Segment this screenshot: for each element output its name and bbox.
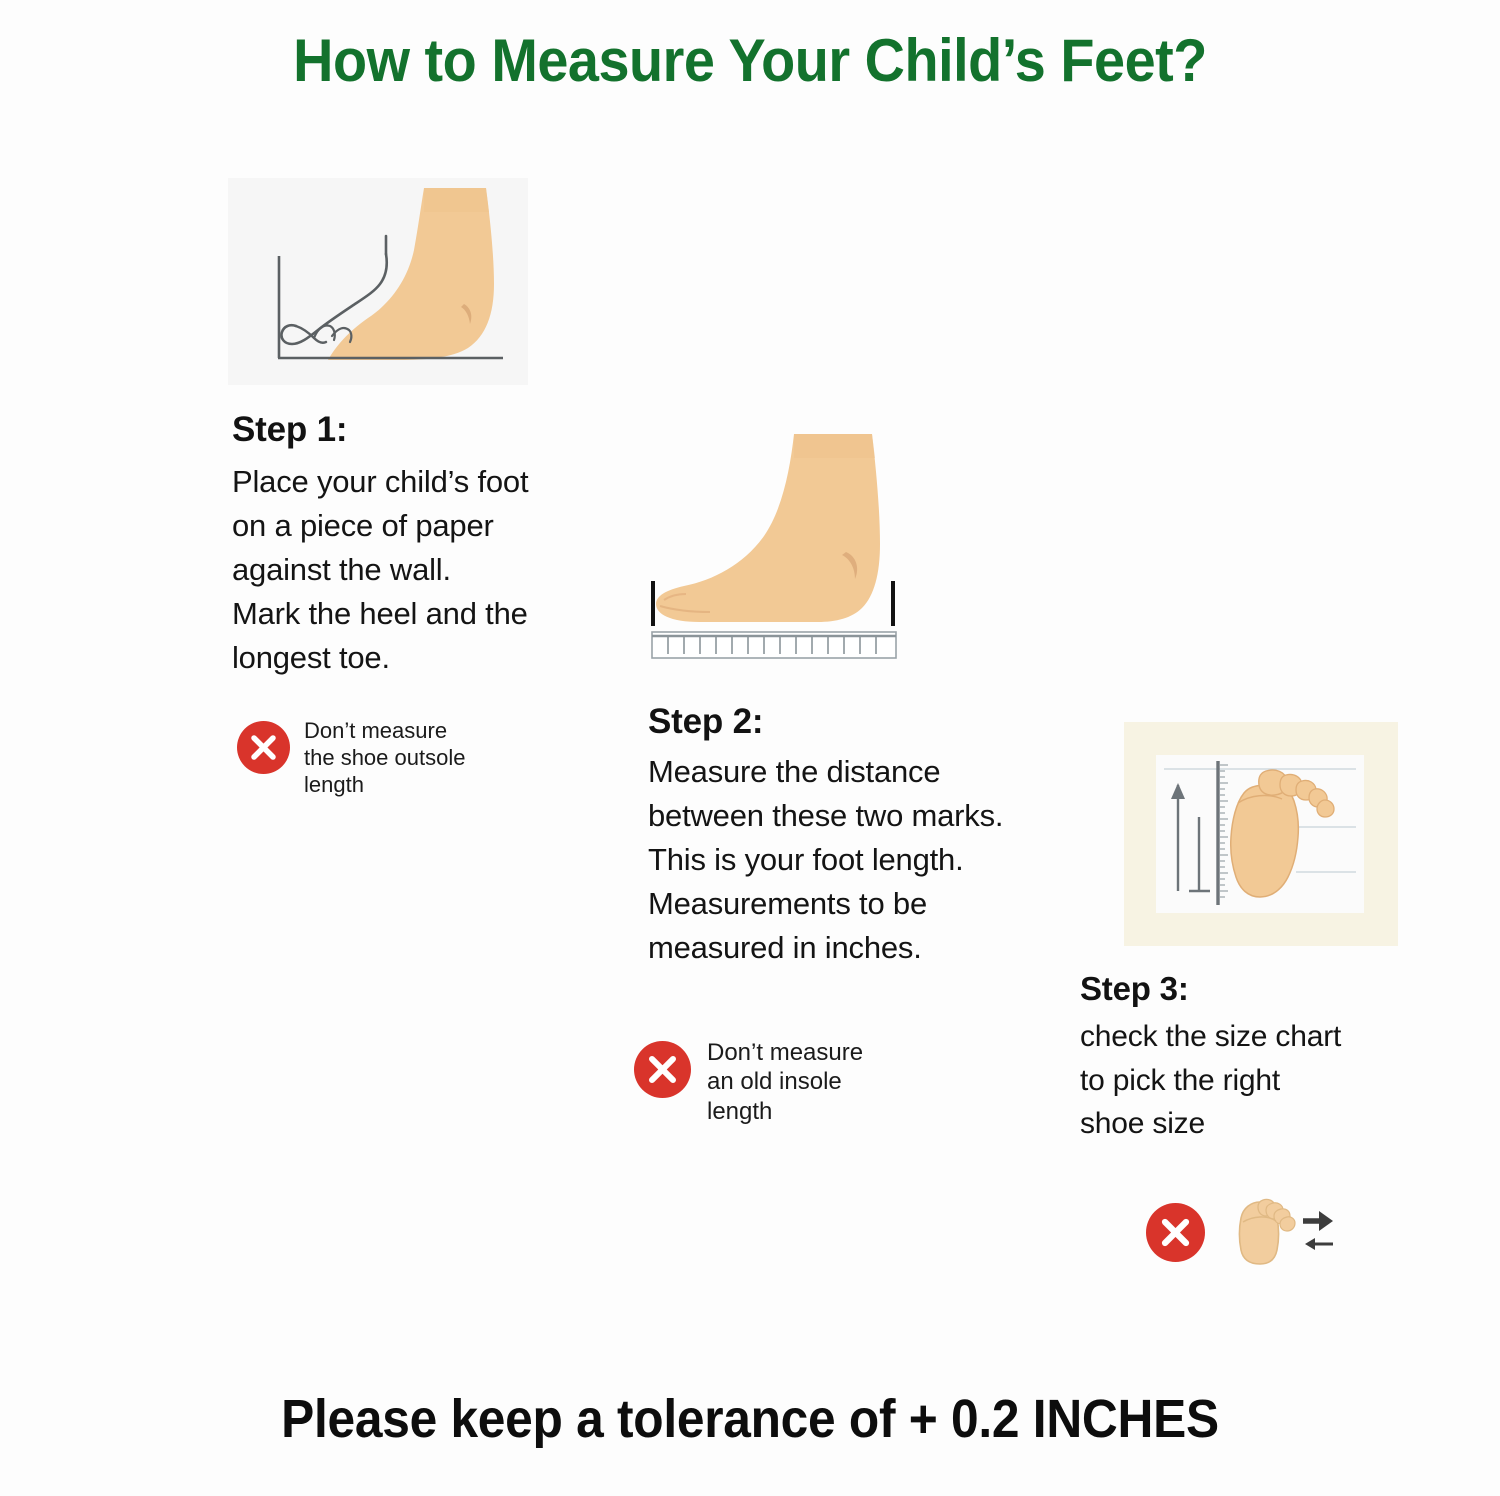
step-2-heading: Step 2: bbox=[648, 700, 1088, 744]
short-measure-arrow-icon bbox=[1189, 817, 1210, 891]
left-arrow-icon bbox=[1305, 1238, 1333, 1250]
foot-side-against-wall-graphic bbox=[228, 178, 528, 385]
vertical-ruler-ticks bbox=[1220, 765, 1228, 897]
step-1-line-2: on a piece of paper bbox=[232, 504, 562, 548]
x-cross-glyph bbox=[634, 1041, 691, 1098]
step-1-illustration bbox=[228, 178, 528, 385]
step-1-line-1: Place your child’s foot bbox=[232, 460, 562, 504]
page-title: How to Measure Your Child’s Feet? bbox=[53, 26, 1448, 95]
step-1-warning-line-1: Don’t measure bbox=[304, 718, 465, 745]
step-2-warning-line-1: Don’t measure bbox=[707, 1038, 863, 1067]
step-3-illustration bbox=[1124, 722, 1398, 946]
step-2-line-3: This is your foot length. bbox=[648, 838, 1088, 882]
step-3-line-1: check the size chart bbox=[1080, 1015, 1420, 1059]
ankle-shade bbox=[424, 188, 489, 212]
step-1-body: Place your child’s foot on a piece of pa… bbox=[232, 460, 562, 680]
step-3-line-2: to pick the right bbox=[1080, 1059, 1420, 1103]
step-1-line-4: Mark the heel and the bbox=[232, 592, 562, 636]
toe-5 bbox=[1317, 800, 1334, 817]
step-3-heading: Step 3: bbox=[1080, 968, 1420, 1009]
step-2-body: Measure the distance between these two m… bbox=[648, 750, 1088, 970]
x-cross-glyph bbox=[1146, 1203, 1205, 1262]
step-1-heading: Step 1: bbox=[232, 408, 562, 452]
red-x-circle-icon bbox=[237, 721, 290, 774]
foot-fill bbox=[328, 188, 494, 360]
footprint-with-opposing-arrows-icon bbox=[1227, 1196, 1337, 1268]
infographic-page: How to Measure Your Child’s Feet? Step 1… bbox=[0, 0, 1500, 1496]
step-3-line-3: shoe size bbox=[1080, 1102, 1420, 1146]
toe-small-4 bbox=[1280, 1217, 1295, 1231]
step-3-body: check the size chart to pick the right s… bbox=[1080, 1015, 1420, 1146]
step-1-text-block: Step 1: Place your child’s foot on a pie… bbox=[232, 408, 562, 680]
step-2-warning: Don’t measure an old insole length bbox=[634, 1038, 863, 1126]
step-2-line-4: Measurements to be bbox=[648, 882, 1088, 926]
step-1-line-5: longest toe. bbox=[232, 636, 562, 680]
step-1-warning-text: Don’t measure the shoe outsole length bbox=[304, 718, 465, 798]
toe-detail-2 bbox=[314, 326, 335, 341]
red-x-circle-icon bbox=[634, 1041, 691, 1098]
step-2-text-block: Step 2: Measure the distance between the… bbox=[648, 700, 1088, 970]
foot-fill bbox=[656, 434, 880, 622]
step-2-line-1: Measure the distance bbox=[648, 750, 1088, 794]
red-x-circle-icon bbox=[1146, 1203, 1205, 1262]
step-2-line-2: between these two marks. bbox=[648, 794, 1088, 838]
step-2-warning-text: Don’t measure an old insole length bbox=[707, 1038, 863, 1126]
x-cross-glyph bbox=[237, 721, 290, 774]
step-3-warning bbox=[1146, 1196, 1337, 1268]
step-2-warning-line-3: length bbox=[707, 1097, 863, 1126]
step-1-line-3: against the wall. bbox=[232, 548, 562, 592]
footprint-chart-graphic bbox=[1156, 755, 1364, 913]
ankle-shade bbox=[794, 434, 875, 458]
step-1-warning-line-2: the shoe outsole bbox=[304, 745, 465, 772]
step-1-warning-line-3: length bbox=[304, 772, 465, 799]
measuring-chart-card bbox=[1156, 755, 1364, 913]
step-2-warning-line-2: an old insole bbox=[707, 1067, 863, 1096]
step-2-line-5: measured in inches. bbox=[648, 926, 1088, 970]
foot-side-with-ruler-graphic bbox=[640, 424, 940, 664]
long-up-arrow-icon bbox=[1171, 783, 1185, 891]
tolerance-note: Please keep a tolerance of + 0.2 INCHES bbox=[60, 1388, 1440, 1450]
step-3-warning-glyph bbox=[1227, 1196, 1337, 1268]
step-2-illustration bbox=[640, 424, 940, 664]
right-arrow-icon bbox=[1303, 1211, 1333, 1231]
step-1-warning: Don’t measure the shoe outsole length bbox=[237, 718, 465, 798]
step-3-text-block: Step 3: check the size chart to pick the… bbox=[1080, 968, 1420, 1146]
